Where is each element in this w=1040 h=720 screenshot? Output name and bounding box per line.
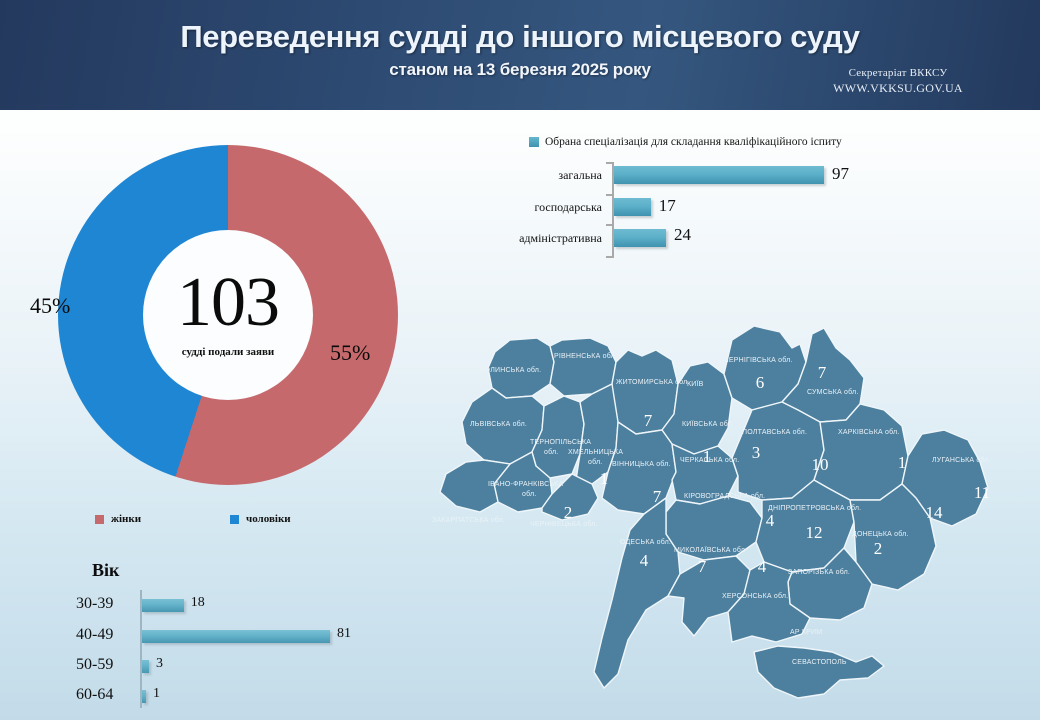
label-donetsk: ДОНЕЦЬКА обл. [852,530,909,538]
legend-swatch-men [230,515,239,524]
label-zhytomyr: ЖИТОМИРСЬКА обл. [616,378,690,386]
age-bar [142,660,149,673]
label-khmelnytskyi: ХМЕЛЬНИЦЬКА [568,449,623,456]
specialization-bar [614,198,651,216]
brand-block: Секретаріат ВККСУ WWW.VKKSU.GOV.UA [778,66,1018,96]
age-category-label: 40-49 [76,626,134,644]
label-rivne: РІВНЕНСЬКА обл. [554,352,617,360]
specialization-value: 97 [832,164,849,184]
label-kharkiv: ХАРКІВСЬКА обл. [838,428,899,436]
specialization-category-label: господарська [534,200,602,215]
legend-swatch-women [95,515,104,524]
legend-label-men: чоловіки [246,513,291,525]
label-vinnytsia: ВІННИЦЬКА обл. [612,460,671,468]
value-vinnytsia: 7 [653,487,662,506]
header-banner: Переведення судді до іншого місцевого су… [0,0,1040,110]
value-kyiv-oblast: 1 [703,447,712,466]
label-odesa: ОДЕСЬКА обл. [620,538,671,546]
label-volyn: ВОЛИНСЬКА обл. [480,366,541,374]
value-poltava: 10 [812,455,829,474]
label-luhansk: ЛУГАНСЬКА обл. [932,456,991,464]
age-category-label: 60-64 [76,686,134,704]
specialization-bar [614,229,666,247]
value-donetsk: 14 [926,503,944,522]
label-poltava: ПОЛТАВСЬКА обл. [742,428,807,436]
specialization-bar [614,166,824,184]
page-title: Переведення судді до іншого місцевого су… [0,19,1040,55]
specialization-legend-label: Обрана спеціалізація для складання квалі… [545,136,842,148]
axis-tick [606,194,612,196]
label-chernihiv: ЧЕРНІГІВСЬКА обл. [724,356,793,364]
legend-item-women: жінки [95,513,141,525]
label-mykolaiv: МИКОЛАЇВСЬКА обл [674,546,745,554]
label-khmelnytskyi-2: обл. [588,458,602,466]
label-dnipro: ДНІПРОПЕТРОВСЬКА обл. [768,504,861,512]
label-lviv: ЛЬВІВСЬКА обл. [470,420,527,428]
specialization-plot-area: загальна 97 господарська 17 адміністрати… [505,160,905,260]
label-sumy: СУМСЬКА обл. [807,388,858,396]
value-mykolaiv: 7 [698,557,707,576]
label-zaporizhzhia: ЗАПОРІЗЬКА обл. [788,568,850,576]
donut-caption: судді подали заяви [182,346,275,358]
donut-percent-women: 55% [330,340,370,366]
brand-website: WWW.VKKSU.GOV.UA [778,81,1018,97]
ukraine-region-map: ВОЛИНСЬКА обл. РІВНЕНСЬКА обл. ЖИТОМИРСЬ… [432,322,1040,710]
label-sevastopol: СЕВАСТОПОЛЬ [792,659,847,666]
axis-tick [606,162,612,164]
age-value: 3 [156,656,163,672]
label-ternopil-2: обл. [544,448,558,456]
axis-tick [606,224,612,226]
value-zhytomyr: 7 [644,411,653,430]
value-zaporizhzhia: 2 [874,539,883,558]
label-crimea: АР КРИМ [790,629,822,636]
label-ivano-2: обл. [522,490,536,498]
age-value: 81 [337,626,351,642]
value-dnipro: 12 [806,523,823,542]
gender-donut-chart: 103 судді подали заяви 45% 55% [58,145,398,485]
specialization-category-label: загальна [558,168,602,183]
brand-secretariat: Секретаріат ВККСУ [778,66,1018,81]
specialization-value: 24 [674,225,691,245]
legend-item-men: чоловіки [230,513,291,525]
label-ternopil: ТЕРНОПІЛЬСЬКА [530,439,591,446]
infographic-canvas: Переведення судді до іншого місцевого су… [0,0,1040,720]
axis-tick [606,256,612,258]
label-kyiv-city: КИЇВ [687,380,704,388]
value-kirovohrad: 4 [766,511,775,530]
age-chart-title: Вік [92,560,119,581]
age-bar [142,630,330,643]
label-kyiv-oblast: КИЇВСЬКА обл. [682,420,734,428]
specialization-category-label: адміністративна [519,231,602,246]
label-zakarpattia: ЗАКАРПАТСЬКА обл. [432,516,505,524]
value-odesa: 4 [640,551,649,570]
value-khmelnytskyi: 1 [600,469,609,488]
specialization-value: 17 [659,196,676,216]
value-kherson: 4 [758,557,767,576]
value-kharkiv: 1 [898,453,907,472]
donut-percent-men: 45% [30,293,70,319]
age-bar-chart: Вік 30-39 18 40-49 81 50-59 3 60-64 1 [60,560,400,710]
region-crimea [754,646,884,698]
age-plot-area: 30-39 18 40-49 81 50-59 3 60-64 1 [60,590,400,710]
label-ivano: ІВАНО-ФРАНКІВСЬКА [488,481,564,488]
value-cherkasy: 3 [752,443,761,462]
value-chernihiv: 6 [756,373,765,392]
age-category-label: 30-39 [76,595,134,613]
specialization-legend: Обрана спеціалізація для складання квалі… [529,136,842,148]
age-category-label: 50-59 [76,656,134,674]
age-value: 18 [191,595,205,611]
donut-total-number: 103 [177,268,279,338]
map-regions [440,326,988,698]
legend-label-women: жінки [111,513,141,525]
value-sumy: 7 [818,363,827,382]
label-kherson: ХЕРСОНСЬКА обл. [722,592,788,600]
specialization-bar-chart: Обрана спеціалізація для складання квалі… [505,136,905,261]
legend-swatch-specialization [529,137,539,147]
age-bar [142,599,184,612]
value-chernivtsi: 2 [564,503,573,522]
value-luhansk: 11 [974,483,990,502]
label-kirovohrad: КІРОВОГРАДСЬКА обл. [684,492,765,500]
donut-center: 103 судді подали заяви [143,230,313,400]
age-value: 1 [153,686,160,702]
age-bar [142,690,146,703]
